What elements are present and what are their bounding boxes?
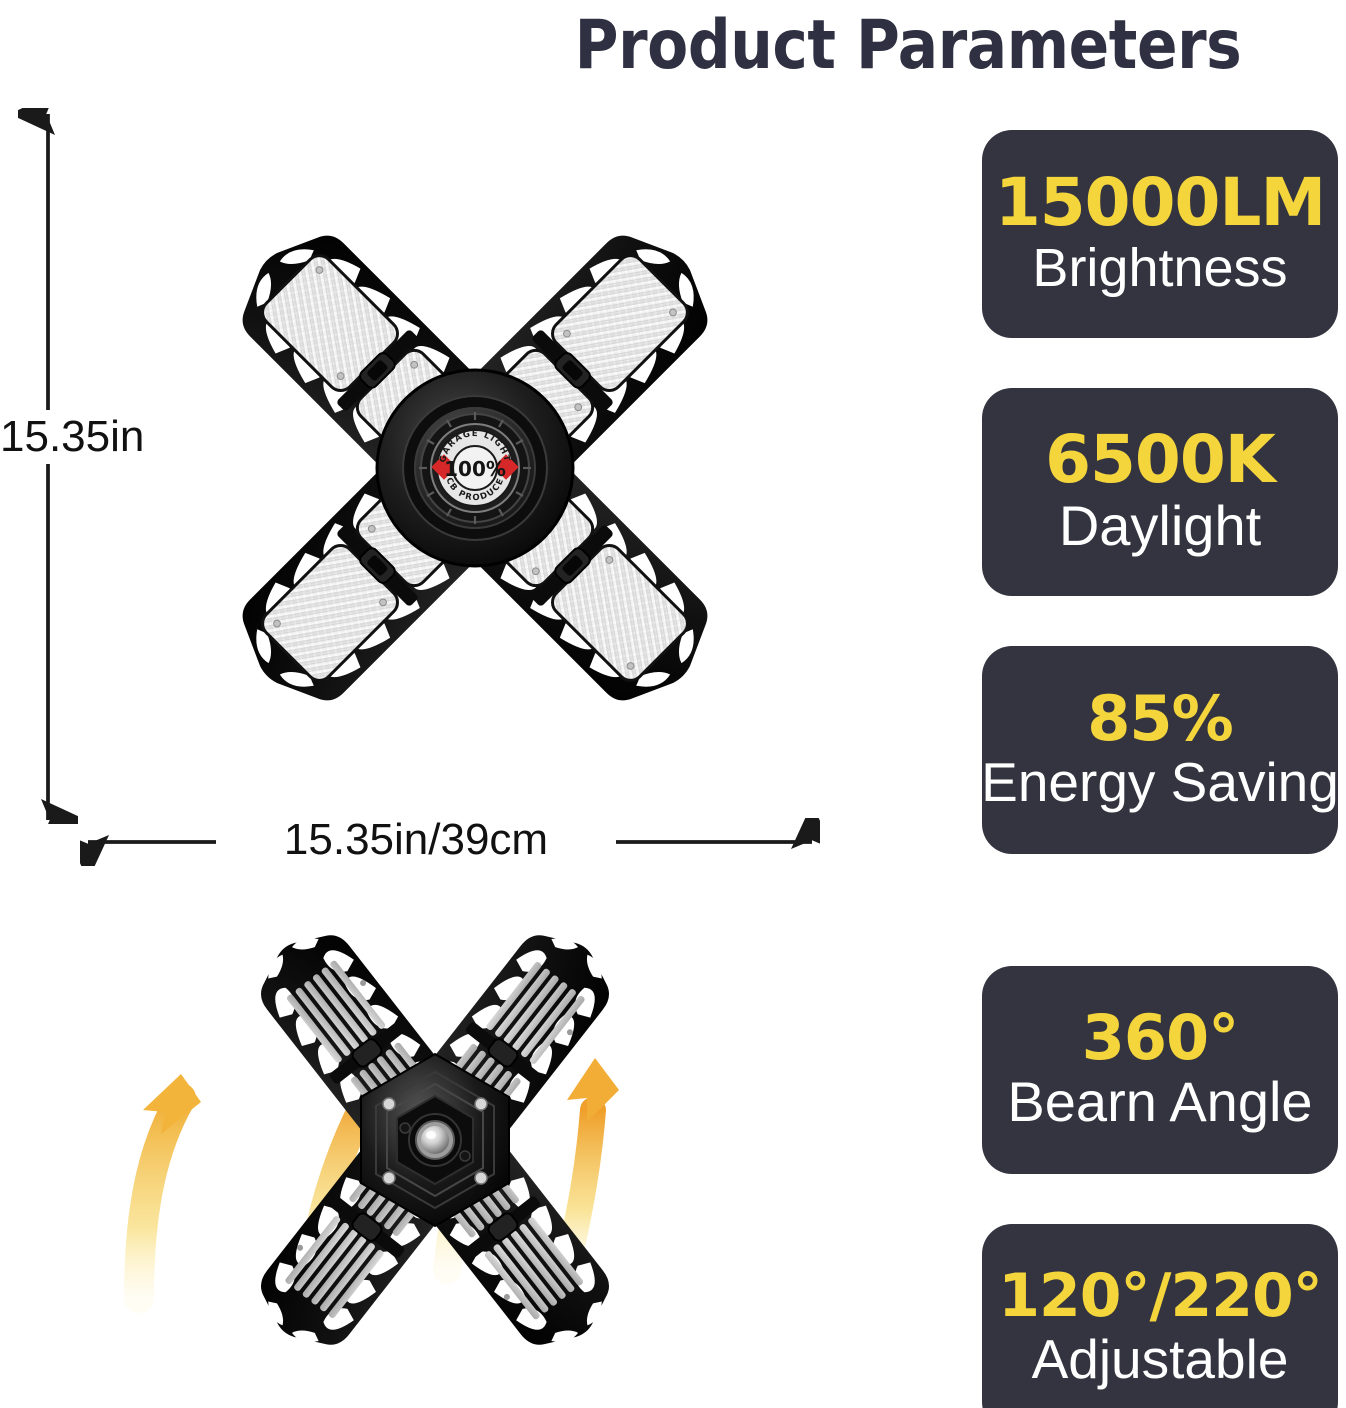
param-value: 85% — [1087, 687, 1232, 750]
page-title: Product Parameters — [523, 2, 1294, 88]
height-dimension-label: 15.35in — [0, 410, 172, 464]
parameter-cards-list: 15000LM Brightness 6500K Daylight 85% En… — [982, 130, 1340, 1380]
param-label: Energy Saving — [982, 752, 1338, 814]
param-card-color-temperature[interactable]: 6500K Daylight — [982, 388, 1338, 596]
param-value: 120°/220° — [998, 1266, 1321, 1327]
param-card-beam-angle[interactable]: 360° Bearn Angle — [982, 966, 1338, 1174]
param-label: Adjustable — [1032, 1329, 1289, 1391]
param-value: 15000LM — [995, 169, 1325, 236]
param-label: Brightness — [1032, 238, 1287, 298]
param-label: Bearn Angle — [1007, 1071, 1312, 1134]
hub-badge-center-text: 100% — [444, 457, 506, 481]
product-image-rear-heat-dissipation — [95, 878, 775, 1388]
product-image-front: 100% GARAGE LIGHT CB PRODUCE — [70, 98, 880, 838]
param-label: Daylight — [1059, 495, 1261, 558]
param-card-energy-saving[interactable]: 85% Energy Saving — [982, 646, 1338, 854]
param-value: 6500K — [1045, 426, 1275, 493]
param-value: 360° — [1082, 1006, 1238, 1069]
product-images-column: 15.35in — [0, 88, 960, 1408]
width-dimension-label: 15.35in/39cm — [216, 810, 616, 870]
param-card-brightness[interactable]: 15000LM Brightness — [982, 130, 1338, 338]
height-dimension-arrow — [18, 108, 78, 824]
param-card-adjustable-angle[interactable]: 120°/220° Adjustable — [982, 1224, 1338, 1408]
product-parameters-infographic: Product Parameters 15.35in — [0, 0, 1346, 1408]
